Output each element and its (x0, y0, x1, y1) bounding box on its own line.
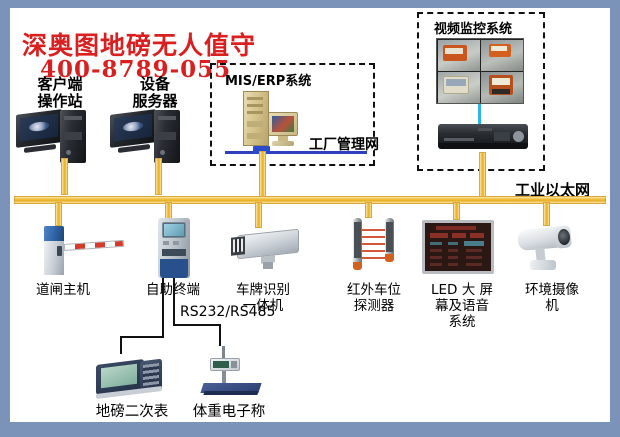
ethernet-backbone (14, 196, 606, 204)
uplink-device-server (155, 158, 162, 195)
label-led-display: LED 大 屏 幕及语音 系统 (416, 282, 508, 330)
label-env-camera: 环境摄像 机 (506, 282, 598, 314)
infrared-beam-icon (345, 216, 405, 278)
scale-icon (192, 346, 268, 400)
uplink-video-surveillance (479, 152, 486, 197)
droplink-led-display (453, 202, 460, 220)
bullet-camera-icon (510, 222, 590, 278)
server-tower-icon (243, 91, 269, 146)
serial-branch-horizontal-right (173, 324, 221, 326)
serial-branch-horizontal (120, 336, 164, 338)
camera-dvr-link (478, 104, 481, 124)
indicator-icon (94, 356, 166, 398)
label-factory-network: 工厂管理网 (309, 134, 379, 154)
diagram-canvas: 深奥图地磅无人值守 400-8789-055 客户端 操作站 设备 服务器 MI… (10, 8, 610, 422)
label-device-server: 设备 服务器 (105, 76, 205, 110)
serial-drop-scale (219, 324, 221, 346)
client-workstation-icon (16, 110, 106, 165)
label-client-workstation: 客户端 操作站 (10, 76, 110, 110)
label-barrier-gate: 道闸主机 (15, 282, 111, 298)
lpr-camera-icon (225, 224, 317, 276)
zone-title-mis-erp: MIS/ERP系统 (225, 70, 311, 89)
barrier-gate-icon (38, 220, 128, 278)
device-server-icon (110, 110, 200, 165)
zone-title-video-surveillance: 视频监控系统 (434, 18, 512, 37)
uplink-client-workstation (61, 158, 68, 195)
crt-monitor-icon (268, 112, 300, 148)
label-weighbridge-indicator: 地磅二次表 (85, 404, 179, 420)
label-infrared-detector: 红外车位 探测器 (328, 282, 420, 314)
quad-camera-view-icon (436, 38, 524, 104)
dvr-recorder-icon (438, 124, 528, 152)
uplink-mis-erp (259, 151, 266, 197)
led-screen-icon (422, 220, 494, 278)
label-platform-scale: 体重电子称 (182, 404, 276, 420)
serial-drop-indicator (120, 336, 122, 354)
label-serial-bus: RS232/RS485 (180, 304, 275, 320)
serial-trunk-left (162, 278, 164, 338)
serial-trunk-right (173, 278, 175, 326)
kiosk-icon (150, 218, 200, 280)
